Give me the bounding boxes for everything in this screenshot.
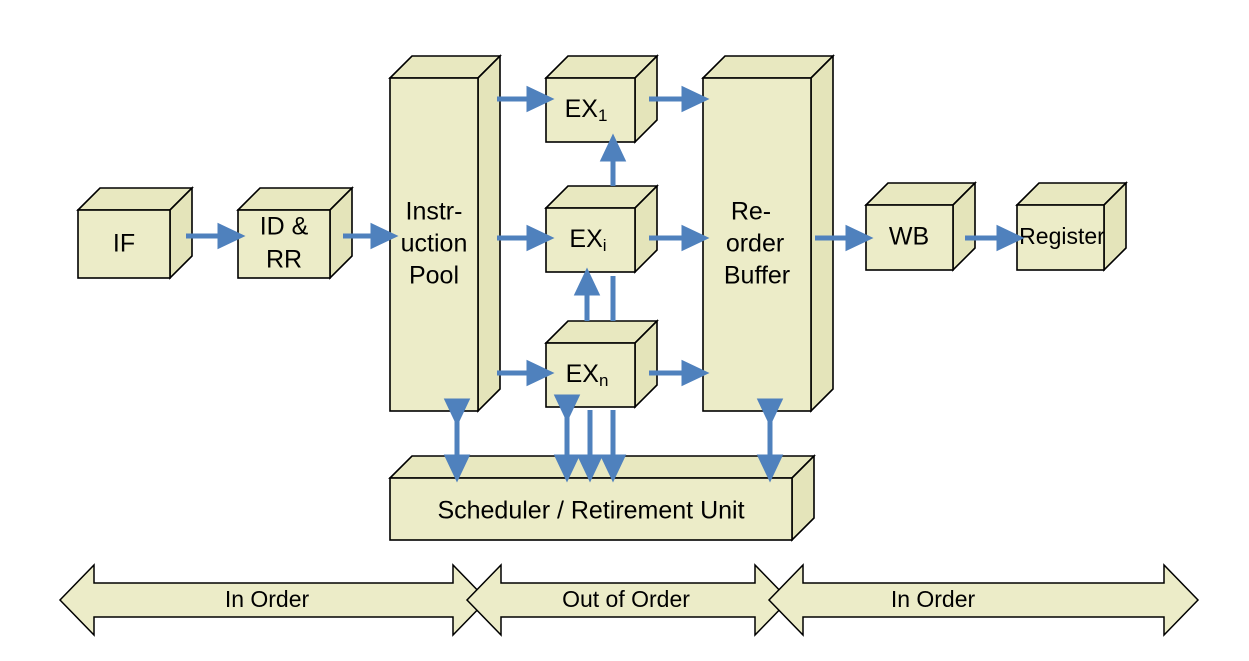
block-reorder-buffer[interactable]: Re- order Buffer <box>703 56 833 411</box>
block-instruction-pool-label-line1: Instr- <box>406 198 463 226</box>
block-exi[interactable]: EXi <box>546 186 657 272</box>
block-scheduler-top-face <box>390 456 814 478</box>
block-ex1[interactable]: EX1 <box>546 56 657 142</box>
block-exn[interactable]: EXn <box>546 321 657 407</box>
block-instruction-pool-side-face <box>478 56 500 411</box>
band-out-of-order-label: Out of Order <box>562 586 690 612</box>
block-scheduler-label: Scheduler / Retirement Unit <box>437 497 744 525</box>
block-if-label: IF <box>113 230 135 258</box>
diagram-canvas: IF ID & RR Instr- uction Pool EX1 EXi EX… <box>0 0 1249 661</box>
block-register[interactable]: Register <box>1017 183 1126 270</box>
block-instruction-pool[interactable]: Instr- uction Pool <box>390 56 500 411</box>
band-in-order-left-label: In Order <box>225 586 310 612</box>
block-wb[interactable]: WB <box>866 183 975 270</box>
pipeline-diagram: IF ID & RR Instr- uction Pool EX1 EXi EX… <box>0 0 1249 661</box>
block-instruction-pool-label-line2: uction <box>401 230 468 258</box>
block-id-rr-label-line1: ID & <box>260 213 309 241</box>
block-reorder-buffer-label-line1: Re- <box>731 198 771 226</box>
block-exi-label: EXi <box>569 225 606 256</box>
block-wb-label: WB <box>889 223 929 251</box>
block-id-rr[interactable]: ID & RR <box>238 188 352 278</box>
band-in-order-right-label: In Order <box>891 586 976 612</box>
block-reorder-buffer-side-face <box>811 56 833 411</box>
block-reorder-buffer-label-line3: Buffer <box>724 262 790 290</box>
block-register-label: Register <box>1019 223 1105 249</box>
block-reorder-buffer-label-line2: order <box>726 230 784 258</box>
block-if[interactable]: IF <box>78 188 192 278</box>
block-instruction-pool-label-line3: Pool <box>409 262 459 290</box>
block-id-rr-label-line2: RR <box>266 246 302 274</box>
block-scheduler[interactable]: Scheduler / Retirement Unit <box>390 456 814 540</box>
